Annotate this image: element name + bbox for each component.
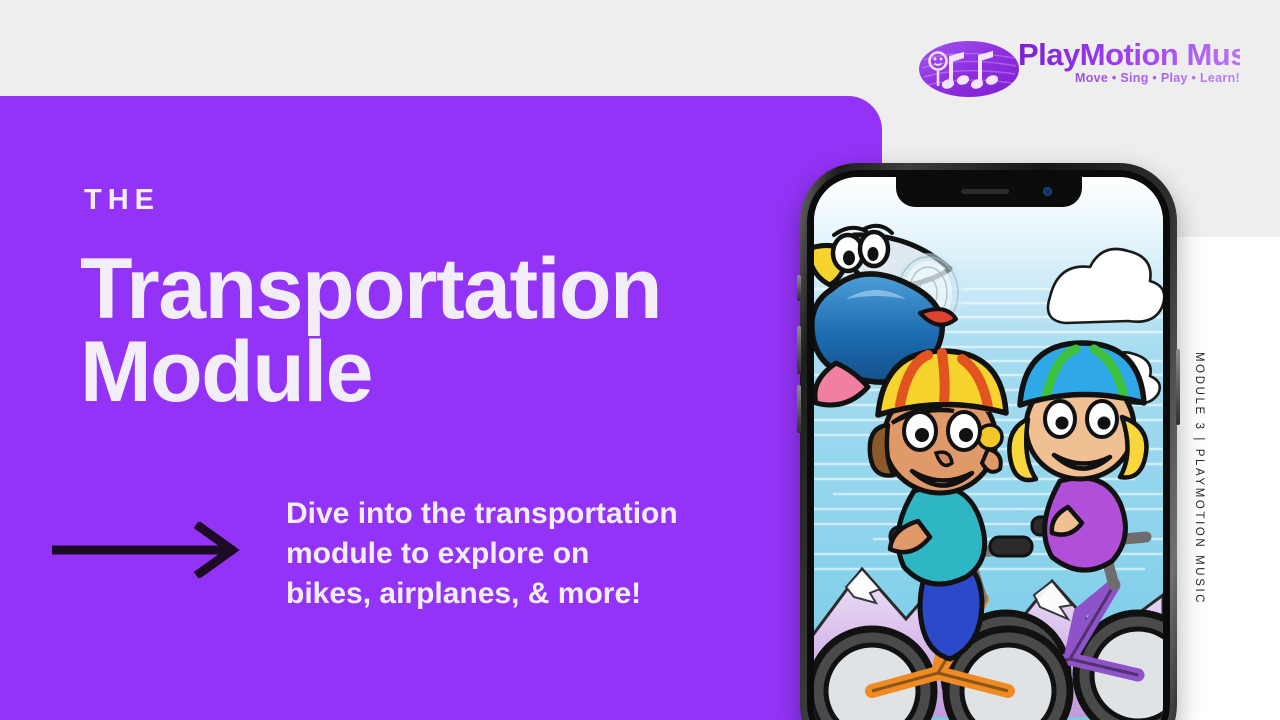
body-copy-line-3: bikes, airplanes, & more! [286,574,786,614]
page-title-line-1: Transportation [80,248,800,331]
brand-tagline: Move • Sing • Play • Learn! [1018,71,1240,85]
brand-name: PlayMotion Music [1018,38,1240,72]
phone-volume-down-button[interactable] [797,385,801,433]
phone-screen[interactable] [814,177,1163,720]
eyebrow-label: THE [84,186,160,215]
phone-power-button[interactable] [1176,349,1180,425]
brand-logo: PlayMotion Music Move • Sing • Play • Le… [918,38,1240,102]
page-title-line-2: Module [80,331,800,414]
phone-volume-up-button[interactable] [797,326,801,374]
body-copy: Dive into the transportation module to e… [286,494,786,614]
slide-canvas: THE Transportation Module Dive into the … [0,0,1280,720]
front-camera-icon [1043,187,1052,196]
arrow-right-icon [52,522,242,578]
phone-mockup [800,163,1177,720]
pmm-music-note-icon [918,40,1020,98]
page-title: Transportation Module [80,248,800,415]
phone-mute-switch[interactable] [797,275,801,301]
phone-notch [896,177,1082,207]
brand-logo-text: PlayMotion Music Move • Sing • Play • Le… [1018,38,1240,85]
body-copy-line-1: Dive into the transportation [286,494,786,534]
transportation-illustration [814,177,1163,720]
earpiece-speaker-icon [961,189,1009,194]
module-side-label: MODULE 3 | PLAYMOTION MUSIC [1193,352,1205,605]
body-copy-line-2: module to explore on [286,534,786,574]
